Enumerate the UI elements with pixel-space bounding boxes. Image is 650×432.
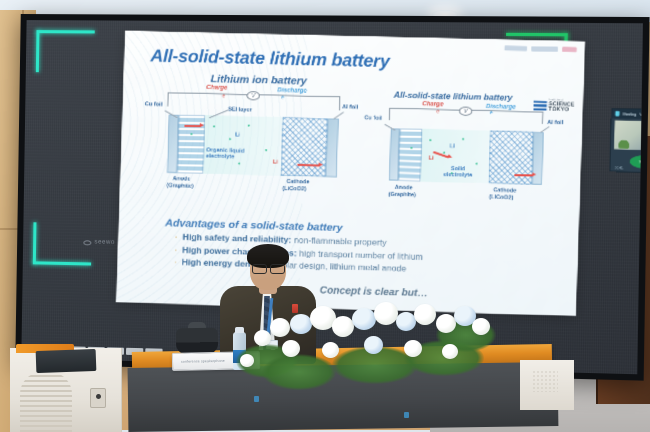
greenery — [262, 354, 336, 390]
cathode-material: (LiCoO2) — [489, 195, 514, 202]
bullet-glyph: · — [174, 245, 177, 254]
lithium-ion-label: Li — [235, 132, 240, 138]
watermark-logo-icon — [83, 240, 91, 245]
conference-room-scene: seewo All-solid-state lithium battery — [0, 0, 650, 432]
flower-bloom — [472, 318, 490, 335]
lithium-ion-dot — [229, 138, 231, 140]
slide-toolbar-overlay[interactable] — [504, 46, 576, 53]
flower-bloom — [290, 314, 312, 334]
electron-label: e — [222, 93, 225, 99]
conference-microphone[interactable] — [176, 328, 218, 355]
leader-line — [540, 126, 549, 133]
podium-indicator — [404, 412, 409, 418]
laptop-device[interactable] — [36, 349, 97, 373]
lithium-ion-label: Li — [449, 144, 454, 150]
flower-bloom — [254, 330, 271, 346]
solid-electrolyte-label: Solid electrolyte — [438, 166, 477, 180]
feed-plant — [617, 138, 630, 149]
toolbar-chip[interactable] — [531, 46, 558, 52]
toolbar-chip-highlight[interactable] — [562, 47, 577, 52]
flower-bloom — [332, 316, 354, 337]
flower-bloom — [282, 340, 300, 357]
flower-bloom — [404, 340, 422, 357]
al-foil-right — [532, 132, 544, 185]
al-foil-left — [326, 118, 339, 177]
flower-arrangement — [236, 300, 496, 390]
flower-bloom — [322, 342, 339, 358]
lithium-ion-dot — [429, 139, 431, 141]
cathode-material: (LiCoO2) — [282, 186, 306, 193]
electrolyte-region — [203, 115, 282, 176]
flower-bloom — [374, 302, 398, 325]
lithium-ion-dot — [476, 163, 478, 165]
lithium-ion-dot — [190, 133, 192, 135]
electron-label: e — [490, 110, 493, 116]
lithium-ion-dot — [265, 149, 267, 151]
lithium-ion-dot — [410, 147, 412, 149]
charge-label: Charge — [206, 85, 227, 92]
flower-bloom — [396, 312, 416, 331]
flower-bloom — [364, 336, 383, 354]
electron-label: e — [436, 109, 439, 115]
cabinet-vent — [20, 372, 72, 432]
lithium-ion-dot — [213, 126, 215, 128]
lithium-ion-label: Li — [428, 155, 433, 161]
electrolyte-label: Organic liquid electrolyte — [206, 148, 249, 162]
charge-label: Charge — [422, 101, 443, 108]
presentation-slide[interactable]: All-solid-state lithium battery Institut… — [116, 31, 585, 316]
flower-bloom — [240, 354, 254, 367]
bullet-glyph: · — [174, 258, 177, 267]
flower-bloom — [442, 344, 458, 359]
lithium-ion-battery-diagram: Lithium ion battery Charge Discharge e e… — [143, 71, 382, 218]
device-label: conference speakerphone — [181, 359, 225, 364]
al-foil-label: Al foil — [547, 120, 563, 127]
lithium-ion-dot — [238, 163, 240, 165]
anode-label: Anode — [395, 185, 413, 192]
bullet-glyph: · — [175, 232, 178, 241]
right-diagram-heading: All-solid-state lithium battery — [394, 90, 513, 103]
anode-block — [398, 128, 422, 181]
flower-bloom — [414, 304, 436, 325]
discharge-label: Discharge — [277, 88, 307, 95]
cabinet-lock[interactable] — [90, 388, 106, 408]
cu-foil-label: Cu foil — [364, 115, 382, 122]
cathode-block — [281, 117, 328, 177]
cathode-label: Cathode — [286, 179, 309, 186]
lithium-ion-dot — [443, 152, 445, 154]
watermark-label: seewo — [94, 239, 115, 245]
al-foil-label: Al foil — [342, 105, 358, 111]
speaker-glasses — [252, 264, 285, 272]
cathode-label: Cathode — [493, 188, 516, 195]
flower-bloom — [270, 318, 290, 337]
video-feed[interactable] — [614, 120, 643, 151]
display-watermark: seewo — [83, 239, 115, 246]
lithium-ion-label: Li — [273, 159, 278, 165]
cathode-block — [488, 131, 533, 185]
closing-line: Concept is clear but… — [319, 285, 427, 299]
flower-bloom — [436, 314, 456, 333]
anode-material: (Graphite) — [388, 192, 416, 199]
video-timer: 00:41 — [614, 166, 623, 170]
podium-indicator — [254, 396, 259, 402]
lithium-ion-dot — [462, 138, 464, 140]
anode-material: (Graphite) — [166, 183, 193, 190]
video-tab-video[interactable]: Video — [640, 112, 643, 116]
video-app-icon — [615, 111, 619, 116]
video-panel-titlebar[interactable]: Meeting Video — [612, 109, 643, 120]
video-app-logo: Tencent — [629, 155, 643, 169]
flower-bloom — [352, 308, 376, 330]
sei-layer-label: SEI layer — [228, 107, 252, 114]
all-solid-state-battery-diagram: All-solid-state lithium battery Charge D… — [367, 89, 577, 226]
right-cabinet-vent — [532, 370, 558, 392]
cu-foil-label: Cu foil — [145, 102, 163, 108]
electron-label: e — [281, 95, 284, 101]
toolbar-chip[interactable] — [504, 46, 527, 52]
lithium-ion-dot — [248, 124, 250, 126]
video-tab-meeting[interactable]: Meeting — [623, 112, 637, 116]
anode-label: Anode — [173, 176, 191, 183]
video-conference-panel[interactable]: Meeting Video Tencent 00:41 — [609, 108, 643, 174]
